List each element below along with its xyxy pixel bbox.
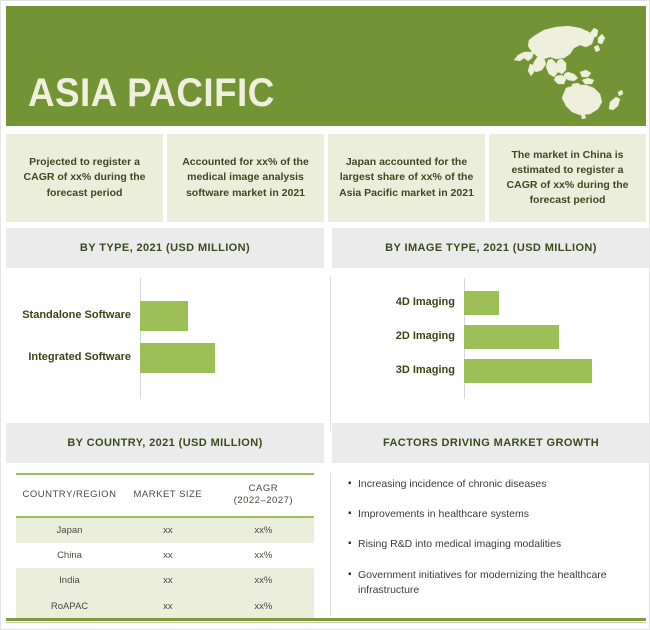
panel-factors-body: ▪ Increasing incidence of chronic diseas… — [332, 463, 650, 606]
column-header-cagr-line2: (2022–2027) — [234, 495, 293, 506]
panel-by-image-type-header: BY IMAGE TYPE, 2021 (USD MILLION) — [332, 228, 650, 268]
bar-row-4d-imaging: 4D Imaging — [332, 291, 650, 315]
column-header-cagr: CAGR (2022–2027) — [213, 474, 314, 517]
panel-by-image-type: BY IMAGE TYPE, 2021 (USD MILLION) 4D Ima… — [332, 228, 650, 405]
panel-by-type-header: BY TYPE, 2021 (USD MILLION) — [6, 228, 324, 268]
bar-label-2d-imaging: 2D Imaging — [332, 330, 464, 344]
highlight-box-3-text: Japan accounted for the largest share of… — [338, 155, 475, 201]
cell-country: RoAPAC — [16, 594, 123, 619]
panel-by-type-body: Standalone Software Integrated Software — [6, 268, 324, 405]
bar-row-integrated-software: Integrated Software — [6, 343, 324, 373]
cell-country: China — [16, 543, 123, 568]
column-header-cagr-line1: CAGR — [249, 483, 278, 494]
bullet-icon: ▪ — [348, 568, 358, 583]
infographic-page: ASIA PACIFIC — [0, 0, 650, 630]
bar-label-4d-imaging: 4D Imaging — [332, 296, 464, 310]
panel-by-type-title: BY TYPE, 2021 (USD MILLION) — [80, 242, 250, 254]
factors-list: ▪ Increasing incidence of chronic diseas… — [332, 463, 650, 606]
panel-by-image-type-body: 4D Imaging 2D Imaging 3D Imaging — [332, 268, 650, 405]
cell-market-size: xx — [123, 517, 213, 543]
highlight-box-4-text: The market in China is estimated to regi… — [499, 148, 636, 209]
cell-market-size: xx — [123, 568, 213, 593]
bar-3d-imaging — [464, 359, 592, 383]
panel-by-country-header: BY COUNTRY, 2021 (USD MILLION) — [6, 423, 324, 463]
table-row: China xx xx% — [16, 543, 314, 568]
table-row: Japan xx xx% — [16, 517, 314, 543]
highlight-box-1-text: Projected to register a CAGR of xx% duri… — [16, 155, 153, 201]
bar-row-3d-imaging: 3D Imaging — [332, 359, 650, 383]
panels-grid: BY TYPE, 2021 (USD MILLION) Standalone S… — [6, 228, 646, 618]
table-row: India xx xx% — [16, 568, 314, 593]
highlight-box-2-text: Accounted for xx% of the medical image a… — [177, 155, 314, 201]
bullet-icon: ▪ — [348, 537, 358, 552]
table-header-row: COUNTRY/REGION MARKET SIZE CAGR (2022–20… — [16, 474, 314, 517]
panel-by-type: BY TYPE, 2021 (USD MILLION) Standalone S… — [6, 228, 324, 405]
highlight-box-4: The market in China is estimated to regi… — [489, 134, 646, 222]
footer-rule — [6, 618, 646, 621]
bar-label-3d-imaging: 3D Imaging — [332, 364, 464, 378]
list-item: ▪ Government initiatives for modernizing… — [348, 568, 636, 598]
cell-cagr: xx% — [213, 517, 314, 543]
column-divider-bottom — [330, 473, 331, 616]
bar-row-standalone-software: Standalone Software — [6, 301, 324, 331]
list-item: ▪ Rising R&D into medical imaging modali… — [348, 537, 636, 552]
cell-country: India — [16, 568, 123, 593]
factor-text: Improvements in healthcare systems — [358, 507, 529, 522]
asia-pacific-map-icon — [494, 14, 634, 122]
factor-text: Government initiatives for modernizing t… — [358, 568, 636, 598]
panel-by-country-title: BY COUNTRY, 2021 (USD MILLION) — [67, 437, 262, 449]
table-row: RoAPAC xx xx% — [16, 594, 314, 619]
cell-cagr: xx% — [213, 568, 314, 593]
panel-factors-header: FACTORS DRIVING MARKET GROWTH — [332, 423, 650, 463]
highlight-boxes: Projected to register a CAGR of xx% duri… — [6, 134, 646, 222]
cell-market-size: xx — [123, 594, 213, 619]
panel-by-country-body: COUNTRY/REGION MARKET SIZE CAGR (2022–20… — [6, 463, 324, 630]
bar-4d-imaging — [464, 291, 499, 315]
panel-factors-title: FACTORS DRIVING MARKET GROWTH — [383, 437, 599, 449]
chart-by-image-type: 4D Imaging 2D Imaging 3D Imaging — [332, 268, 650, 405]
highlight-box-1: Projected to register a CAGR of xx% duri… — [6, 134, 163, 222]
footer-rule-secondary — [6, 622, 646, 623]
column-divider-top — [330, 276, 331, 431]
highlight-box-3: Japan accounted for the largest share of… — [328, 134, 485, 222]
highlight-box-2: Accounted for xx% of the medical image a… — [167, 134, 324, 222]
panel-factors: FACTORS DRIVING MARKET GROWTH ▪ Increasi… — [332, 423, 650, 606]
bullet-icon: ▪ — [348, 507, 358, 522]
page-title: ASIA PACIFIC — [28, 71, 275, 116]
page-header: ASIA PACIFIC — [6, 6, 646, 126]
list-item: ▪ Improvements in healthcare systems — [348, 507, 636, 522]
bar-label-integrated-software: Integrated Software — [6, 350, 140, 364]
bar-label-standalone-software: Standalone Software — [6, 308, 140, 322]
cell-cagr: xx% — [213, 594, 314, 619]
factor-text: Increasing incidence of chronic diseases — [358, 477, 547, 492]
chart-by-type: Standalone Software Integrated Software — [6, 268, 324, 405]
column-header-market-size: MARKET SIZE — [123, 474, 213, 517]
panel-by-country: BY COUNTRY, 2021 (USD MILLION) COUNTRY/R… — [6, 423, 324, 630]
cell-market-size: xx — [123, 543, 213, 568]
country-market-table: COUNTRY/REGION MARKET SIZE CAGR (2022–20… — [16, 473, 314, 619]
bar-2d-imaging — [464, 325, 559, 349]
bar-standalone-software — [140, 301, 188, 331]
bullet-icon: ▪ — [348, 477, 358, 492]
list-item: ▪ Increasing incidence of chronic diseas… — [348, 477, 636, 492]
cell-cagr: xx% — [213, 543, 314, 568]
cell-country: Japan — [16, 517, 123, 543]
factor-text: Rising R&D into medical imaging modaliti… — [358, 537, 561, 552]
column-header-country: COUNTRY/REGION — [16, 474, 123, 517]
bar-row-2d-imaging: 2D Imaging — [332, 325, 650, 349]
bar-integrated-software — [140, 343, 215, 373]
panel-by-image-type-title: BY IMAGE TYPE, 2021 (USD MILLION) — [385, 242, 597, 254]
